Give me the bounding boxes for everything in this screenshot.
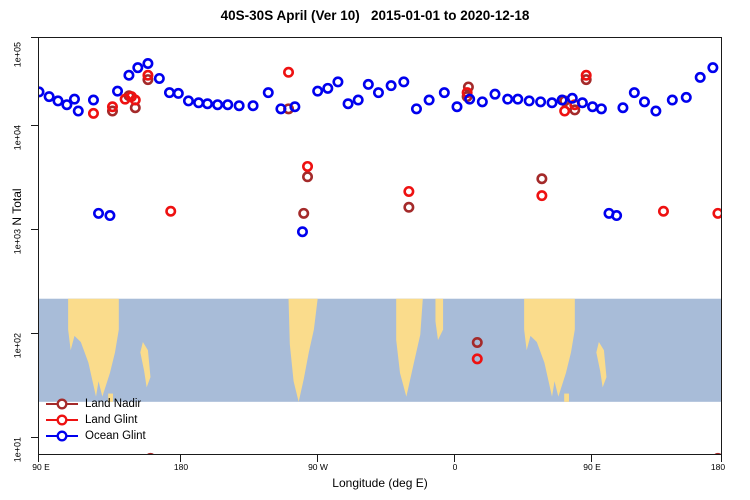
data-point[interactable]: [70, 95, 78, 103]
x-tick-mark: [454, 455, 455, 462]
data-point[interactable]: [491, 90, 499, 98]
data-point[interactable]: [453, 103, 461, 111]
data-point[interactable]: [405, 187, 413, 195]
data-point[interactable]: [224, 101, 232, 109]
data-point[interactable]: [303, 162, 311, 170]
x-tick-mark: [180, 455, 181, 462]
data-point[interactable]: [473, 355, 481, 363]
data-point[interactable]: [155, 74, 163, 82]
data-point[interactable]: [45, 92, 53, 100]
data-point[interactable]: [538, 175, 546, 183]
x-axis-label: Longitude (deg E): [38, 476, 722, 490]
data-point[interactable]: [536, 98, 544, 106]
data-point[interactable]: [203, 100, 211, 108]
data-point[interactable]: [652, 107, 660, 115]
legend-label-land-glint: Land Glint: [85, 413, 137, 427]
data-point[interactable]: [709, 63, 717, 71]
data-point[interactable]: [630, 88, 638, 96]
data-point[interactable]: [364, 80, 372, 88]
chart-figure: 40S-30S April (Ver 10) 2015-01-01 to 202…: [0, 0, 750, 500]
data-point[interactable]: [425, 96, 433, 104]
x-tick-label-90e-left: 90 E: [32, 462, 50, 472]
scatter-data-layer: [39, 38, 722, 455]
x-tick-mark: [317, 455, 318, 462]
data-point[interactable]: [473, 338, 481, 346]
x-tick-label-0: 0: [453, 462, 458, 472]
data-point[interactable]: [89, 96, 97, 104]
data-point[interactable]: [659, 207, 667, 215]
x-tick-label-90w: 90 W: [308, 462, 328, 472]
data-point[interactable]: [303, 173, 311, 181]
data-point[interactable]: [134, 63, 142, 71]
plot-area: [38, 37, 722, 455]
data-point[interactable]: [548, 99, 556, 107]
data-point[interactable]: [682, 93, 690, 101]
data-point[interactable]: [412, 105, 420, 113]
data-point[interactable]: [568, 94, 576, 102]
series-land-nadir: [108, 75, 722, 455]
data-point[interactable]: [277, 105, 285, 113]
data-point[interactable]: [612, 211, 620, 219]
y-tick-label-1e02: 1e+02: [12, 333, 22, 358]
data-point[interactable]: [74, 107, 82, 115]
data-point[interactable]: [54, 97, 62, 105]
data-point[interactable]: [125, 71, 133, 79]
data-point[interactable]: [538, 191, 546, 199]
data-point[interactable]: [313, 87, 321, 95]
y-tick-label-1e03: 1e+03: [12, 229, 22, 254]
y-tick-mark: [31, 229, 38, 230]
data-point[interactable]: [106, 211, 114, 219]
data-point[interactable]: [144, 59, 152, 67]
legend-marker-land-glint: [45, 413, 79, 427]
data-point[interactable]: [387, 81, 395, 89]
legend-marker-land-nadir: [45, 397, 79, 411]
x-tick-label-180-right: 180: [711, 462, 725, 472]
data-point[interactable]: [184, 97, 192, 105]
x-tick-mark: [591, 455, 592, 462]
data-point[interactable]: [478, 98, 486, 106]
legend-label-land-nadir: Land Nadir: [85, 397, 141, 411]
y-tick-mark: [31, 437, 38, 438]
data-point[interactable]: [213, 101, 221, 109]
data-point[interactable]: [324, 84, 332, 92]
legend-item-land-glint[interactable]: Land Glint: [45, 412, 146, 428]
data-point[interactable]: [113, 87, 121, 95]
data-point[interactable]: [264, 88, 272, 96]
series-ocean-glint: [39, 59, 717, 236]
series-land-glint: [89, 68, 722, 363]
data-point[interactable]: [146, 454, 154, 455]
data-point[interactable]: [334, 78, 342, 86]
legend-item-ocean-glint[interactable]: Ocean Glint: [45, 428, 146, 444]
data-point[interactable]: [400, 78, 408, 86]
y-tick-mark: [31, 125, 38, 126]
data-point[interactable]: [165, 88, 173, 96]
data-point[interactable]: [39, 88, 43, 96]
data-point[interactable]: [405, 203, 413, 211]
data-point[interactable]: [503, 95, 511, 103]
y-tick-mark: [31, 37, 38, 38]
legend-item-land-nadir[interactable]: Land Nadir: [45, 396, 146, 412]
data-point[interactable]: [558, 96, 566, 104]
data-point[interactable]: [298, 228, 306, 236]
data-point[interactable]: [560, 107, 568, 115]
x-tick-mark: [38, 455, 39, 462]
data-point[interactable]: [640, 98, 648, 106]
data-point[interactable]: [167, 207, 175, 215]
x-tick-label-180-left: 180: [174, 462, 188, 472]
y-tick-label-1e01: 1e+01: [12, 437, 22, 462]
y-tick-mark: [31, 333, 38, 334]
data-point[interactable]: [696, 73, 704, 81]
data-point[interactable]: [525, 97, 533, 105]
data-point[interactable]: [300, 209, 308, 217]
chart-title: 40S-30S April (Ver 10) 2015-01-01 to 202…: [0, 8, 750, 23]
y-tick-label-1e05: 1e+05: [12, 42, 22, 67]
data-point[interactable]: [440, 88, 448, 96]
legend-marker-ocean-glint: [45, 429, 79, 443]
data-point[interactable]: [249, 102, 257, 110]
data-point[interactable]: [291, 103, 299, 111]
data-point[interactable]: [174, 89, 182, 97]
data-point[interactable]: [354, 96, 362, 104]
data-point[interactable]: [89, 109, 97, 117]
data-point[interactable]: [344, 100, 352, 108]
y-tick-label-1e04: 1e+04: [12, 125, 22, 150]
data-point[interactable]: [578, 99, 586, 107]
data-point[interactable]: [714, 454, 722, 455]
data-point[interactable]: [668, 96, 676, 104]
x-tick-label-90e-right: 90 E: [583, 462, 601, 472]
data-point[interactable]: [374, 88, 382, 96]
data-point[interactable]: [588, 103, 596, 111]
data-point[interactable]: [597, 105, 605, 113]
legend-label-ocean-glint: Ocean Glint: [85, 429, 146, 443]
data-point[interactable]: [94, 209, 102, 217]
data-point[interactable]: [619, 104, 627, 112]
legend: Land Nadir Land Glint Ocean Glint: [45, 396, 146, 444]
data-point[interactable]: [235, 102, 243, 110]
x-tick-mark: [721, 455, 722, 462]
data-point[interactable]: [514, 95, 522, 103]
data-point[interactable]: [284, 68, 292, 76]
data-point[interactable]: [714, 209, 722, 217]
data-point[interactable]: [194, 99, 202, 107]
